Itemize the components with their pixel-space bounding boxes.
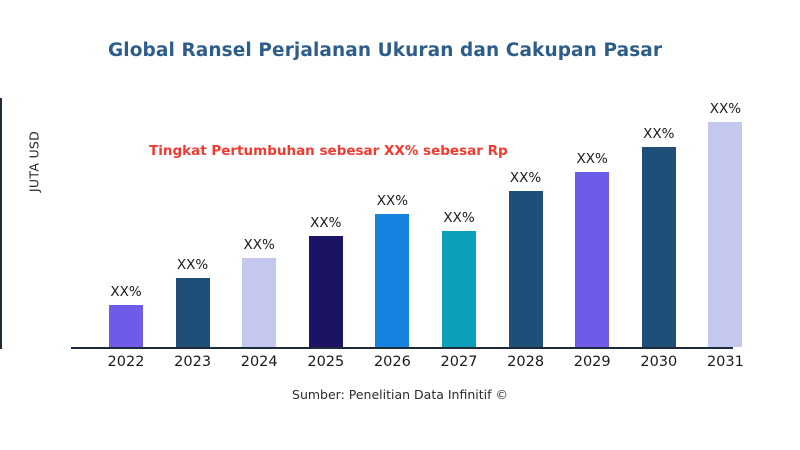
bar-2022[interactable]: XX% [109, 0, 143, 347]
x-tick-label-2027: 2027 [441, 354, 478, 370]
bar-2028[interactable]: XX% [509, 0, 543, 347]
bar-rect-2024[interactable] [242, 258, 276, 347]
bar-2026[interactable]: XX% [375, 0, 409, 347]
bar-value-label-2028: XX% [510, 170, 541, 186]
bar-value-label-2027: XX% [443, 210, 474, 226]
bar-value-label-2024: XX% [244, 237, 275, 253]
bar-2023[interactable]: XX% [176, 0, 210, 347]
bar-rect-2025[interactable] [309, 236, 343, 347]
bar-2030[interactable]: XX% [642, 0, 676, 347]
source-caption: Sumber: Penelitian Data Infinitif © [292, 387, 508, 402]
x-tick-label-2031: 2031 [707, 354, 744, 370]
bars-layer: XX%XX%XX%XX%XX%XX%XX%XX%XX%XX% [0, 0, 800, 347]
bar-rect-2031[interactable] [708, 122, 742, 347]
bar-rect-2030[interactable] [642, 147, 676, 347]
x-tick-label-2029: 2029 [574, 354, 611, 370]
bar-rect-2026[interactable] [375, 214, 409, 347]
x-tick-label-2025: 2025 [307, 354, 344, 370]
bar-rect-2022[interactable] [109, 305, 143, 347]
bar-rect-2027[interactable] [442, 231, 476, 347]
x-tick-label-2028: 2028 [507, 354, 544, 370]
bar-rect-2028[interactable] [509, 191, 543, 347]
bar-2027[interactable]: XX% [442, 0, 476, 347]
bar-2031[interactable]: XX% [708, 0, 742, 347]
x-tick-label-2023: 2023 [174, 354, 211, 370]
bar-value-label-2030: XX% [643, 126, 674, 142]
bar-rect-2023[interactable] [176, 278, 210, 347]
bar-value-label-2025: XX% [310, 215, 341, 231]
bar-2029[interactable]: XX% [575, 0, 609, 347]
bar-value-label-2026: XX% [377, 193, 408, 209]
bar-2025[interactable]: XX% [309, 0, 343, 347]
x-axis-line [71, 347, 733, 349]
chart-container: Global Ransel Perjalanan Ukuran dan Caku… [0, 0, 800, 450]
x-tick-label-2022: 2022 [108, 354, 145, 370]
bar-rect-2029[interactable] [575, 172, 609, 347]
bar-2024[interactable]: XX% [242, 0, 276, 347]
bar-value-label-2029: XX% [577, 151, 608, 167]
x-tick-label-2024: 2024 [241, 354, 278, 370]
x-tick-label-2026: 2026 [374, 354, 411, 370]
x-tick-label-2030: 2030 [640, 354, 677, 370]
bar-value-label-2022: XX% [110, 284, 141, 300]
bar-value-label-2023: XX% [177, 257, 208, 273]
bar-value-label-2031: XX% [710, 101, 741, 117]
